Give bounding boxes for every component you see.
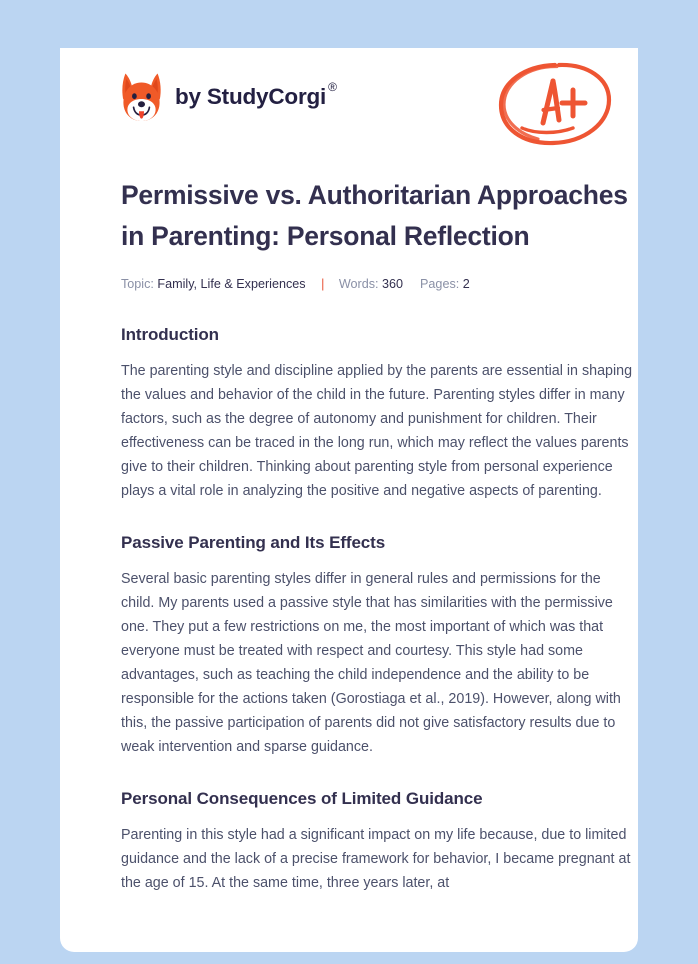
topic-label: Topic:	[121, 277, 154, 291]
section-heading-passive-parenting: Passive Parenting and Its Effects	[121, 531, 633, 555]
topic-value[interactable]: Family, Life & Experiences	[157, 277, 305, 291]
section-heading-personal-consequences: Personal Consequences of Limited Guidanc…	[121, 787, 633, 811]
brand-logo-block[interactable]: byStudyCorgi®	[121, 72, 335, 122]
section-paragraph-introduction: The parenting style and discipline appli…	[121, 359, 633, 503]
words-label: Words:	[339, 277, 379, 291]
document-meta: Topic: Family, Life & Experiences | Word…	[121, 275, 633, 293]
pages-label: Pages:	[420, 277, 459, 291]
page-canvas: byStudyCorgi®	[0, 0, 698, 964]
section-paragraph-personal-consequences: Parenting in this style had a significan…	[121, 823, 633, 895]
meta-separator: |	[321, 277, 324, 291]
brand-name: StudyCorgi	[207, 86, 326, 109]
page-title: Permissive vs. Authoritarian Approaches …	[121, 175, 633, 257]
a-plus-grade-icon	[497, 58, 613, 150]
section-paragraph-passive-parenting: Several basic parenting styles differ in…	[121, 567, 633, 759]
words-value: 360	[382, 277, 403, 291]
pages-value: 2	[463, 277, 470, 291]
section-heading-introduction: Introduction	[121, 323, 633, 347]
brand-by-word: by	[175, 86, 201, 109]
corgi-logo-icon	[121, 72, 162, 122]
document-header: byStudyCorgi®	[60, 48, 638, 160]
document-body: Permissive vs. Authoritarian Approaches …	[121, 175, 633, 895]
brand-wordmark: byStudyCorgi®	[175, 86, 335, 109]
document-card: byStudyCorgi®	[60, 48, 638, 952]
registered-mark: ®	[328, 81, 337, 93]
